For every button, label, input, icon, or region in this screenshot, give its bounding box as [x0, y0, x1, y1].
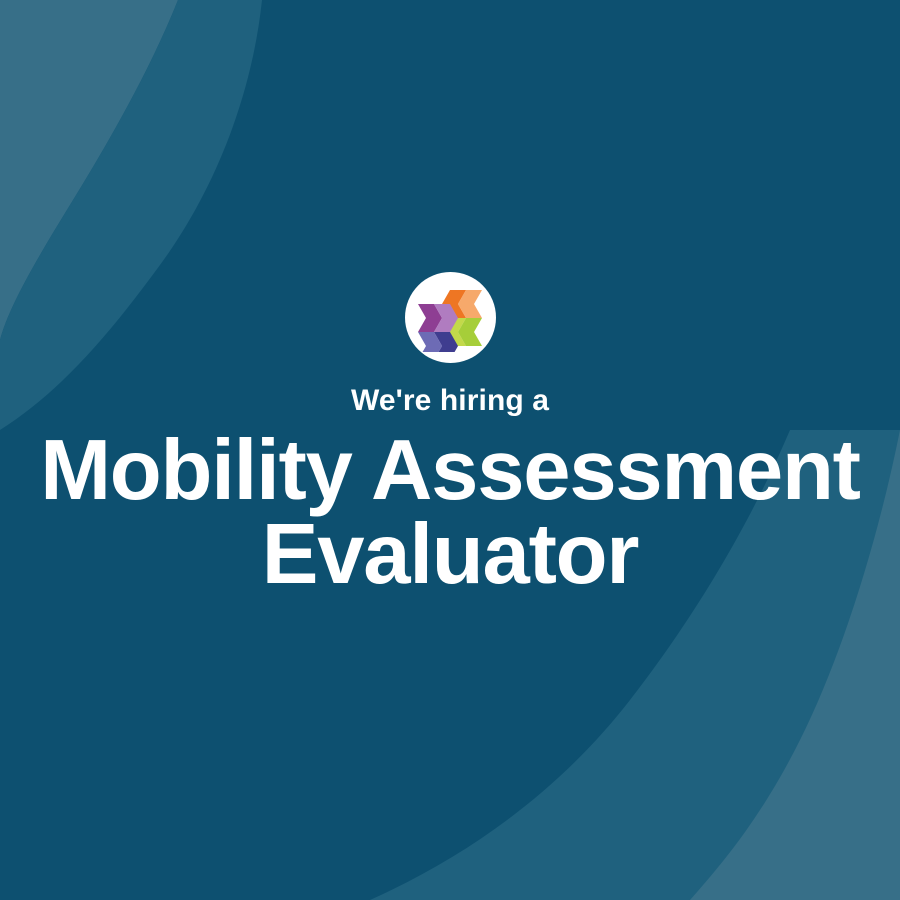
job-posting-poster: We're hiring a Mobility Assessment Evalu… — [0, 0, 900, 900]
company-logo-badge — [405, 272, 496, 363]
job-title-heading: Mobility Assessment Evaluator — [35, 429, 865, 597]
hiring-eyebrow-text: We're hiring a — [351, 384, 549, 417]
company-logo-icon — [416, 284, 484, 352]
